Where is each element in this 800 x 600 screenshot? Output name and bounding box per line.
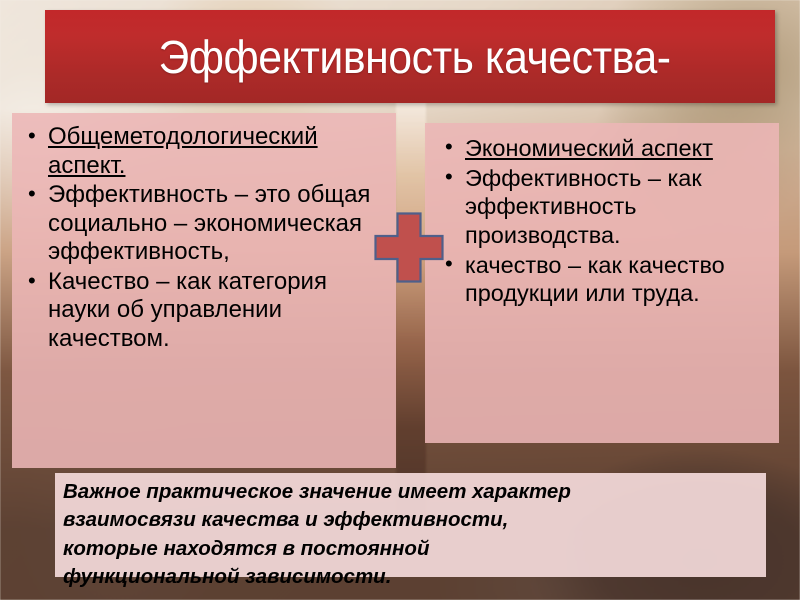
list-item: Экономический аспект xyxy=(443,134,771,163)
bullet-text: Эффективность – как эффективность произв… xyxy=(465,165,702,248)
bullet-text: Качество – как категория науки об управл… xyxy=(48,268,327,352)
slide-title: Эффективность качества- xyxy=(45,30,671,84)
bullet-text: Эффективность – это общая социально – эк… xyxy=(48,181,370,265)
bottom-statement-line: функциональной зависимости. xyxy=(63,563,763,591)
left-content-box: Общеметодологический аспект. Эффективнос… xyxy=(12,113,396,468)
bottom-statement-line: взаимосвязи качества и эффективности, xyxy=(63,506,763,534)
list-item: Эффективность – как эффективность произв… xyxy=(443,164,771,250)
red-cross-icon xyxy=(374,212,444,283)
bullet-text: качество – как качество продукции или тр… xyxy=(465,252,725,307)
right-bullet-list: Экономический аспект Эффективность – как… xyxy=(425,123,779,308)
list-item: качество – как качество продукции или тр… xyxy=(443,251,771,308)
list-item: Общеметодологический аспект. xyxy=(26,123,388,180)
bullet-text: Экономический аспект xyxy=(465,135,713,161)
right-content-box: Экономический аспект Эффективность – как… xyxy=(425,123,779,443)
bullet-text: Общеметодологический аспект. xyxy=(48,123,318,179)
title-banner: Эффективность качества- xyxy=(45,10,775,103)
list-item: Качество – как категория науки об управл… xyxy=(26,268,388,354)
bottom-statement-line: которые находятся в постоянной xyxy=(63,535,763,563)
background-photo-arm-detail xyxy=(396,100,426,520)
bottom-statement-text: Важное практическое значение имеет харак… xyxy=(63,478,763,591)
list-item: Эффективность – это общая социально – эк… xyxy=(26,181,388,267)
left-bullet-list: Общеметодологический аспект. Эффективнос… xyxy=(12,113,396,353)
bottom-statement-line: Важное практическое значение имеет харак… xyxy=(63,478,763,506)
presentation-slide: Эффективность качества- Общеметодологиче… xyxy=(0,0,800,600)
